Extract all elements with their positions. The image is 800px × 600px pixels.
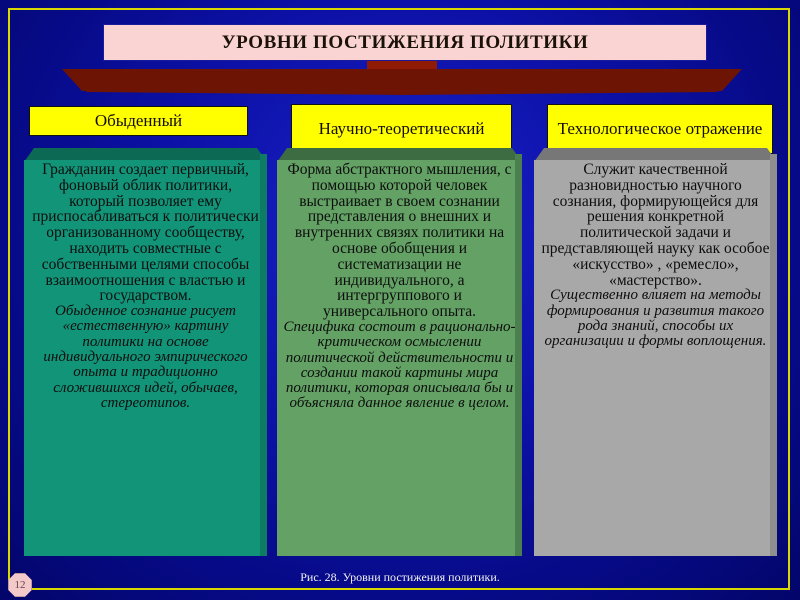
content-text-0: Гражданин создает первичный, фоновый обл… — [24, 160, 267, 556]
paragraph-2-1: Существенно влияет на методы формировани… — [540, 288, 771, 349]
content-text-1: Форма абстрактного мышления, с помощью к… — [277, 160, 522, 556]
column-header-2[interactable]: Технологическое отражение — [547, 104, 773, 154]
figure-caption: Рис. 28. Уровни постижения политики. — [0, 570, 800, 585]
paragraph-2-0: Служит качественной разновидностью научн… — [540, 162, 771, 288]
box-side-1 — [515, 154, 522, 556]
slide-title-box: УРОВНИ ПОСТИЖЕНИЯ ПОЛИТИКИ — [103, 24, 707, 61]
down-arrow-icon — [62, 61, 742, 97]
page-title: УРОВНИ ПОСТИЖЕНИЯ ПОЛИТИКИ — [222, 32, 589, 54]
paragraph-0-1: Обыденное сознание рисует «естественную»… — [30, 304, 261, 411]
content-text-2: Служит качественной разновидностью научн… — [534, 160, 777, 556]
box-side-2 — [770, 154, 777, 556]
column-header-1[interactable]: Научно-теоретический — [291, 104, 512, 154]
slide: УРОВНИ ПОСТИЖЕНИЯ ПОЛИТИКИ Обыденный Нау… — [0, 0, 800, 600]
paragraph-1-0: Форма абстрактного мышления, с помощью к… — [283, 162, 516, 320]
page-number-label: 12 — [15, 579, 26, 591]
column-header-label-1: Научно-теоретический — [319, 120, 485, 138]
paragraph-1-1: Специфика состоит в рационально-критичес… — [283, 320, 516, 412]
column-header-label-0: Обыденный — [95, 112, 182, 130]
content-box-0: Гражданин создает первичный, фоновый обл… — [24, 148, 267, 556]
column-header-0[interactable]: Обыденный — [29, 106, 248, 136]
content-box-1: Форма абстрактного мышления, с помощью к… — [277, 148, 522, 556]
paragraph-0-0: Гражданин создает первичный, фоновый обл… — [30, 162, 261, 304]
content-box-2: Служит качественной разновидностью научн… — [534, 148, 777, 556]
box-side-0 — [260, 154, 267, 556]
column-header-label-2: Технологическое отражение — [558, 120, 763, 138]
